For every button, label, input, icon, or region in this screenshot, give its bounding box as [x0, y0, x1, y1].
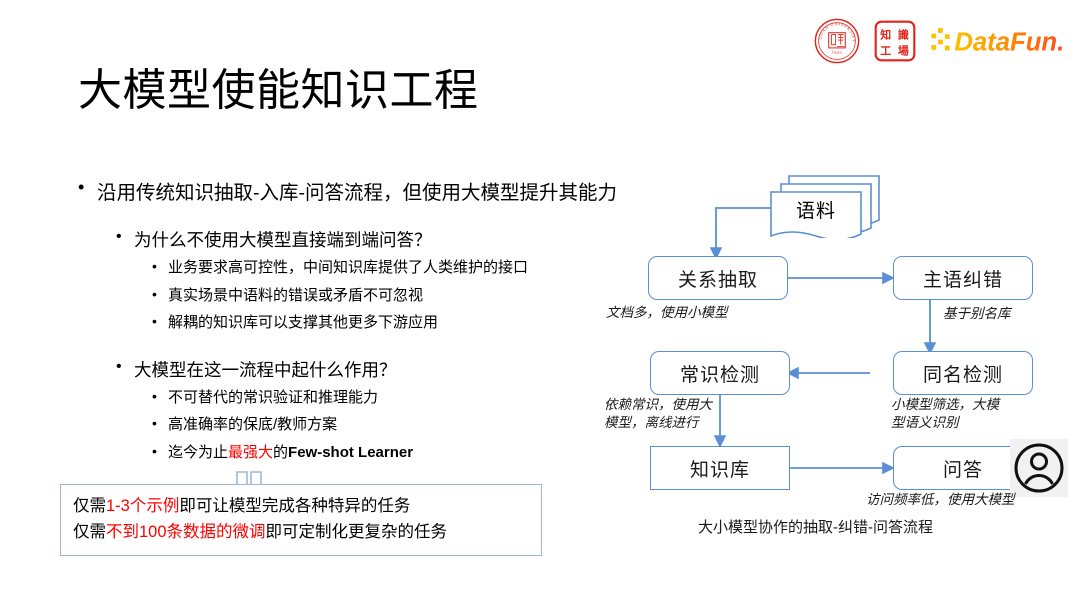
flowchart-note-alias: 基于别名库 — [943, 305, 1011, 323]
bullet-dot-icon: • — [116, 357, 134, 375]
svg-text:知: 知 — [879, 27, 891, 41]
svg-text:識: 識 — [898, 27, 909, 41]
callout-line-2-pre: 仅需 — [73, 523, 106, 541]
bullet-dot-icon: • — [116, 227, 134, 245]
fudan-university-seal-icon: FUDAN UNIVERSITY 1905 — [814, 18, 860, 64]
fewshot-highlight: 最强大 — [228, 444, 273, 461]
bullet-dot-icon: • — [152, 312, 168, 328]
svg-text:工: 工 — [880, 44, 891, 57]
callout-line-1-post: 即可让模型完成各种特异的任务 — [179, 497, 410, 515]
callout-line-2-post: 即可定制化更复杂的任务 — [266, 523, 448, 541]
callout-line-1-highlight: 1-3个示例 — [106, 497, 179, 515]
flowchart: 语料 关系抽取 主语纠错 常识检测 同名检测 知识库 问答 文档多，使用小模型 … — [598, 168, 1080, 538]
svg-text:DataFun.: DataFun. — [954, 28, 1064, 56]
callout-line-1: 仅需1-3个示例即可让模型完成各种特异的任务 — [73, 493, 529, 519]
user-icon — [1010, 439, 1068, 497]
bullet-dot-icon: • — [78, 176, 97, 196]
flowchart-node-homonym-detection[interactable]: 同名检测 — [893, 351, 1033, 395]
callout-line-2-highlight: 不到100条数据的微调 — [106, 523, 266, 541]
svg-text:1905: 1905 — [831, 49, 843, 55]
zhishi-gongchang-logo-icon: 知 識 工 場 — [874, 20, 916, 62]
flowchart-node-subject-correction-label: 主语纠错 — [923, 265, 1003, 292]
bullet-dot-icon: • — [152, 285, 168, 301]
page-title: 大模型使能知识工程 — [78, 66, 479, 115]
flowchart-node-relation-extraction-label: 关系抽取 — [678, 265, 758, 292]
fewshot-mid: 的 — [273, 444, 288, 461]
logo-bar: FUDAN UNIVERSITY 1905 知 識 工 場 — [814, 18, 1072, 64]
flowchart-note-qa: 访问频率低，使用大模型 — [866, 491, 1015, 509]
flowchart-node-subject-correction[interactable]: 主语纠错 — [893, 256, 1033, 300]
flowchart-node-relation-extraction[interactable]: 关系抽取 — [648, 256, 788, 300]
flowchart-node-corpus-label: 语料 — [771, 196, 861, 223]
flowchart-node-user[interactable] — [1010, 439, 1068, 497]
flowchart-caption: 大小模型协作的抽取-纠错-问答流程 — [698, 516, 933, 537]
bullet-dot-icon: • — [152, 387, 168, 403]
datafun-logo-icon: DataFun. — [930, 24, 1072, 58]
flowchart-note-extraction: 文档多，使用小模型 — [606, 304, 728, 322]
callout-line-2: 仅需不到100条数据的微调即可定制化更复杂的任务 — [73, 519, 529, 545]
bullet-dot-icon: • — [152, 257, 168, 273]
flowchart-node-knowledge-base-label: 知识库 — [690, 455, 750, 482]
flowchart-node-homonym-detection-label: 同名检测 — [923, 360, 1003, 387]
flowchart-node-commonsense-check[interactable]: 常识检测 — [650, 351, 790, 395]
flowchart-note-commonsense: 依赖常识，使用大 模型，离线进行 — [604, 396, 712, 432]
callout-line-1-pre: 仅需 — [73, 497, 106, 515]
fewshot-bold: Few-shot Learner — [288, 444, 413, 461]
callout-box: 仅需1-3个示例即可让模型完成各种特异的任务 仅需不到100条数据的微调即可定制… — [60, 484, 542, 556]
fewshot-pre: 迄今为止 — [168, 444, 228, 461]
bullet-dot-icon: • — [152, 442, 168, 458]
flowchart-note-homonym: 小模型筛选，大模 型语义识别 — [891, 396, 999, 432]
svg-text:場: 場 — [898, 43, 909, 57]
flowchart-node-knowledge-base[interactable]: 知识库 — [650, 446, 790, 490]
flowchart-node-commonsense-check-label: 常识检测 — [680, 360, 760, 387]
flowchart-node-qa-label: 问答 — [943, 455, 983, 482]
bullet-dot-icon: • — [152, 414, 168, 430]
